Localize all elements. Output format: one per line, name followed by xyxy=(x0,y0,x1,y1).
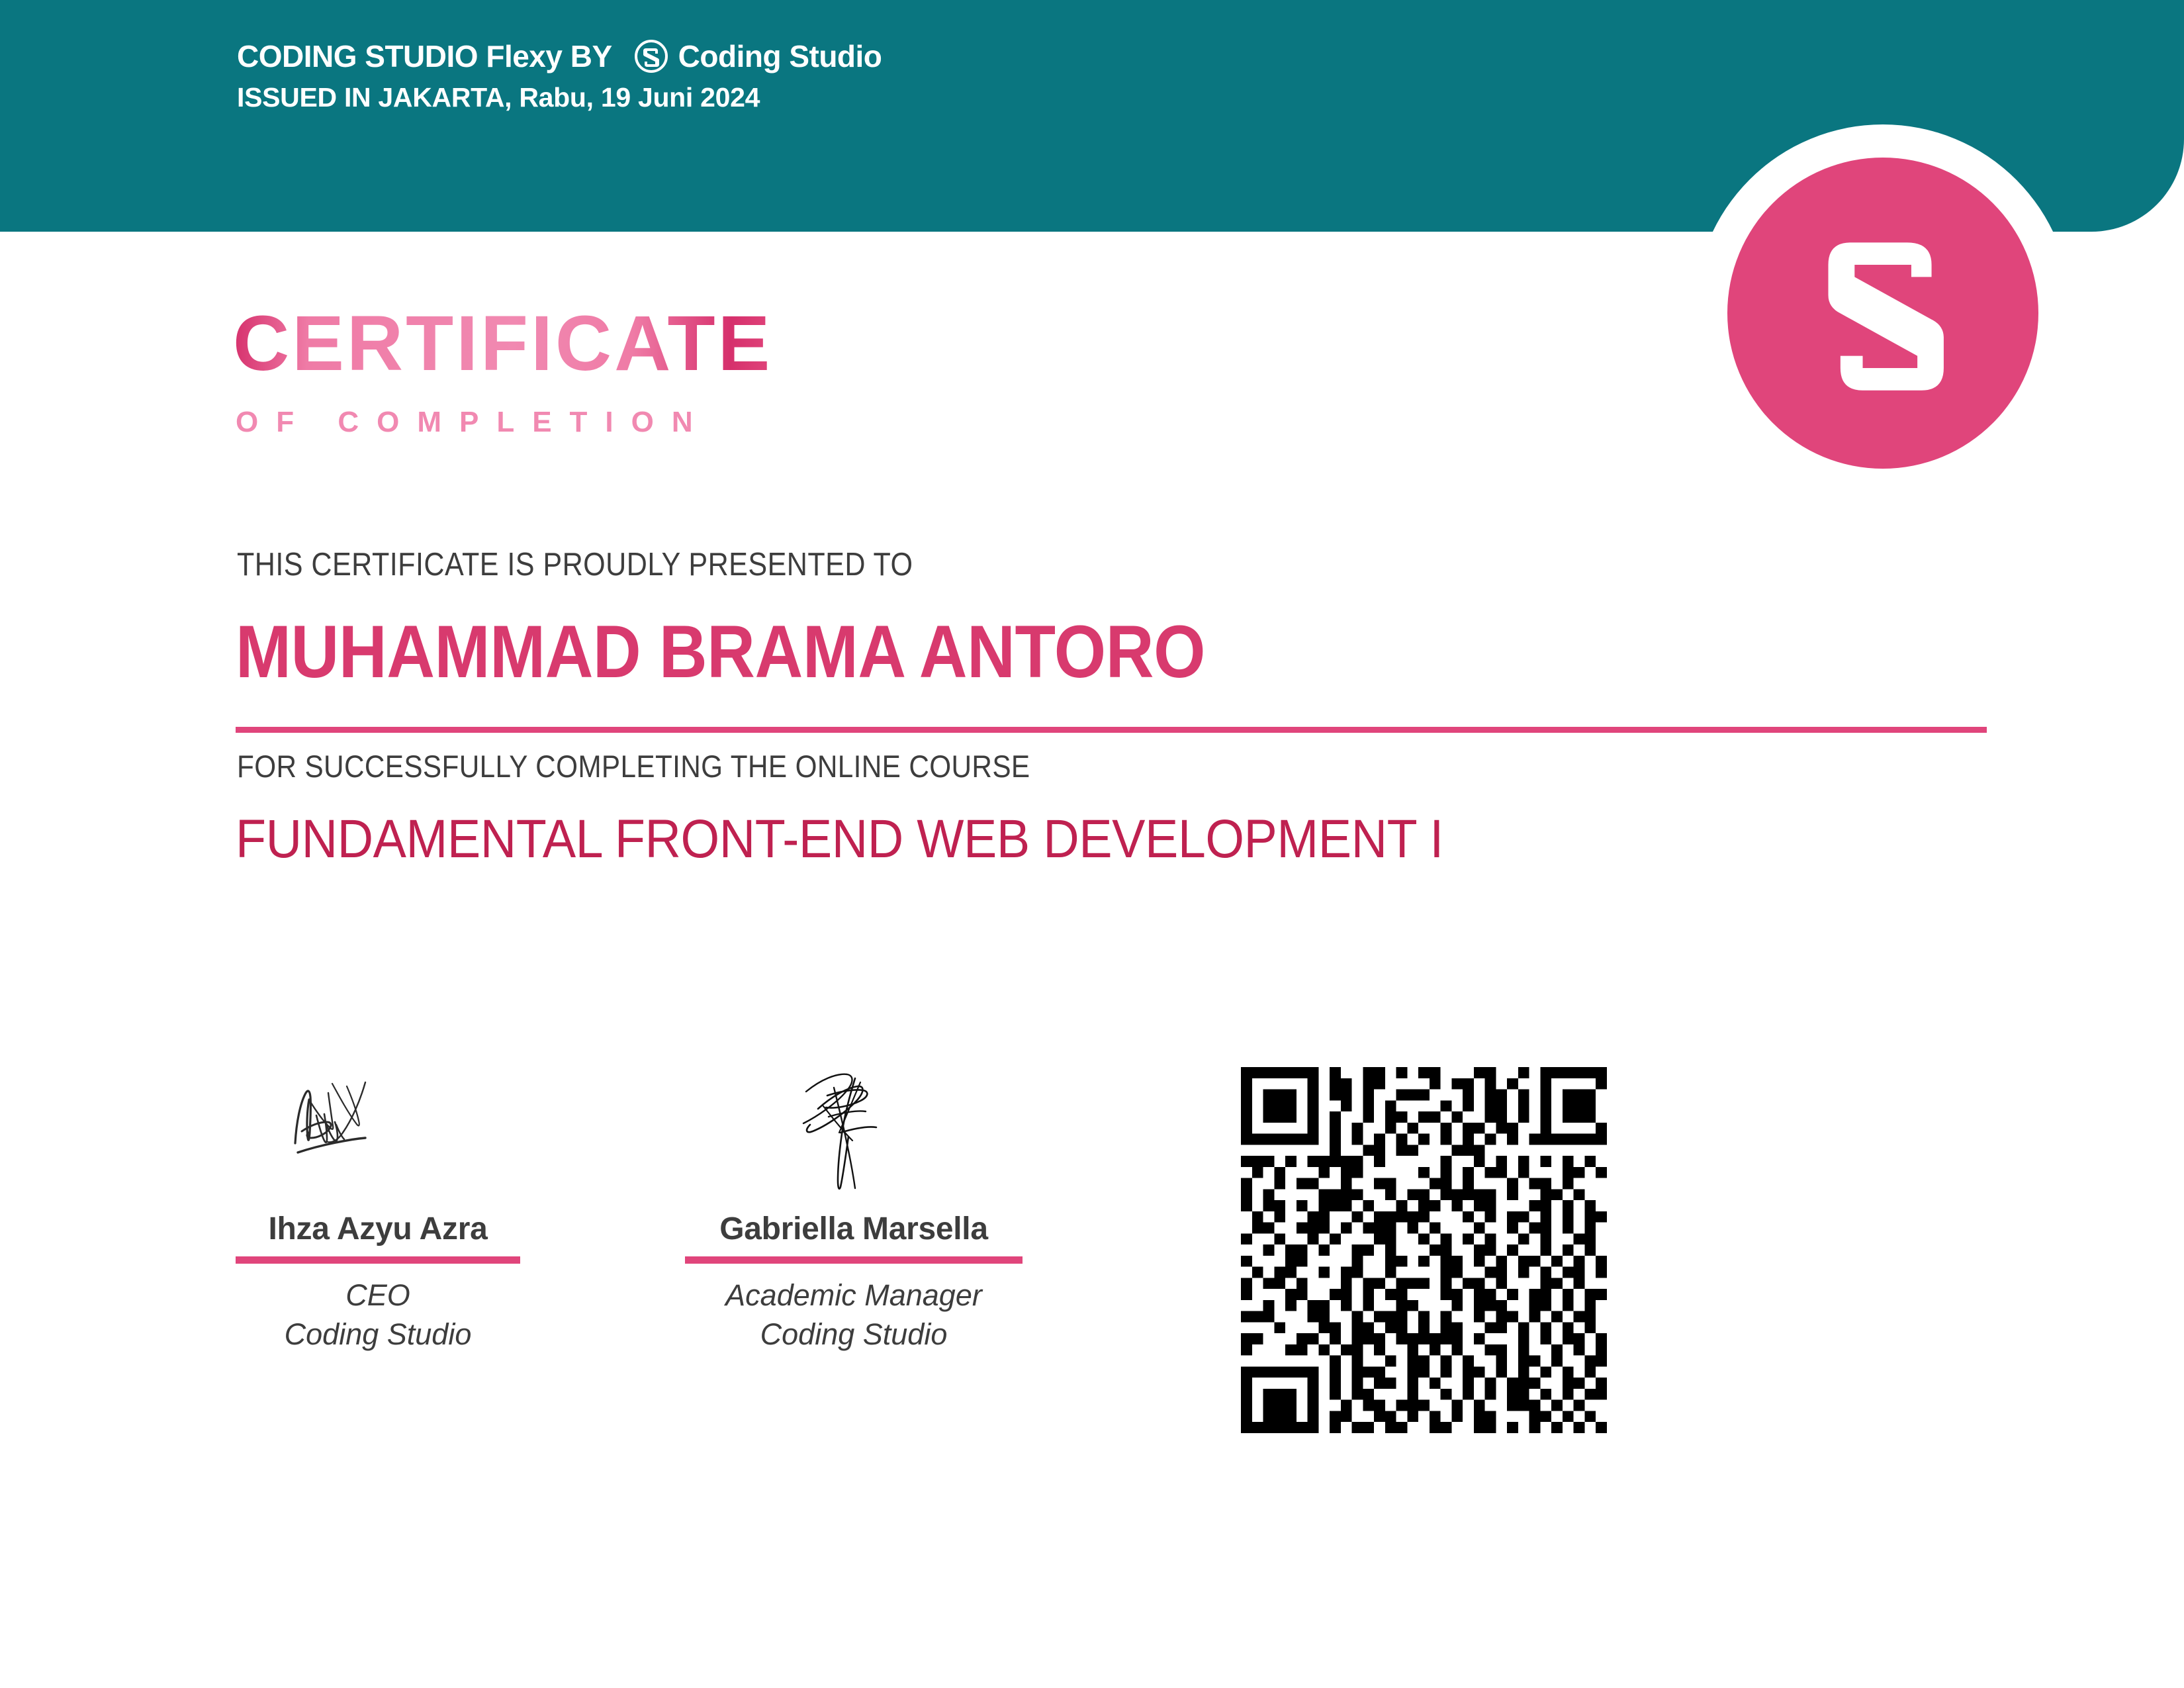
header-brand-name: Coding Studio xyxy=(678,38,882,74)
signatory-role: Academic Manager xyxy=(685,1276,1023,1315)
signatory-block-academic-manager: Gabriella Marsella Academic Manager Codi… xyxy=(685,1069,1023,1354)
signatory-rule xyxy=(685,1256,1023,1264)
name-divider-rule xyxy=(236,727,1987,733)
signatory-name: Gabriella Marsella xyxy=(685,1211,1023,1247)
coding-studio-logo-icon xyxy=(635,40,668,73)
signatory-role: CEO xyxy=(236,1276,520,1315)
signatory-name: Ihza Azyu Azra xyxy=(236,1211,520,1247)
header-program-line: CODING STUDIO Flexy BY Coding Studio xyxy=(237,38,882,74)
certificate-title: CERTIFICATE xyxy=(233,305,772,383)
handwritten-signature-icon xyxy=(236,1069,520,1201)
handwritten-signature-icon xyxy=(685,1069,1023,1201)
certificate-body: CERTIFICATE OF COMPLETION THIS CERTIFICA… xyxy=(0,232,2184,1688)
header-issued-line: ISSUED IN JAKARTA, Rabu, 19 Juni 2024 xyxy=(237,82,882,113)
signatory-rule xyxy=(236,1256,520,1264)
course-intro-label: FOR SUCCESSFULLY COMPLETING THE ONLINE C… xyxy=(237,748,1030,784)
signatory-organization: Coding Studio xyxy=(236,1315,520,1354)
signatory-role-group: Academic Manager Coding Studio xyxy=(685,1276,1023,1354)
recipient-name: MUHAMMAD BRAMA ANTORO xyxy=(236,609,1205,694)
header-program-label: CODING STUDIO Flexy BY xyxy=(237,38,612,74)
course-title: FUNDAMENTAL FRONT-END WEB DEVELOPMENT I xyxy=(236,808,1855,872)
certificate-subtitle: OF COMPLETION xyxy=(236,406,711,439)
signatory-block-ceo: Ihza Azyu Azra CEO Coding Studio xyxy=(236,1069,520,1354)
header-text-group: CODING STUDIO Flexy BY Coding Studio ISS… xyxy=(237,38,882,113)
presented-to-label: THIS CERTIFICATE IS PROUDLY PRESENTED TO xyxy=(237,546,913,583)
qr-code-icon[interactable] xyxy=(1241,1067,1607,1433)
signatory-role-group: CEO Coding Studio xyxy=(236,1276,520,1354)
signatory-organization: Coding Studio xyxy=(685,1315,1023,1354)
